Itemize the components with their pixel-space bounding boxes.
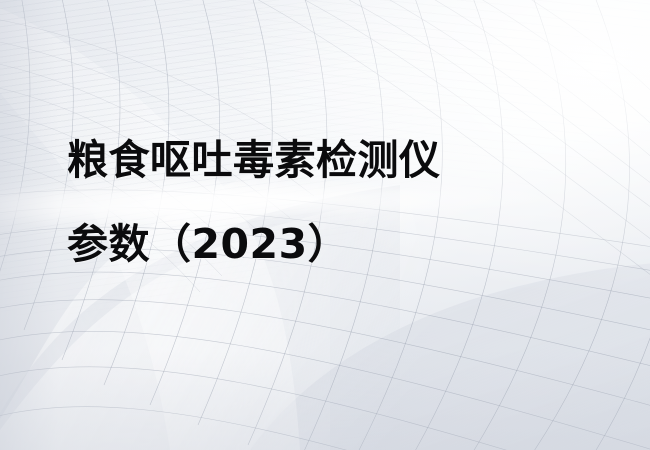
title-block: 粮食呕吐毒素检测仪 参数（2023） <box>67 118 587 286</box>
title-line-2: 参数（2023） <box>67 202 587 286</box>
banner-image: 粮食呕吐毒素检测仪 参数（2023） <box>0 0 650 450</box>
title-line-1: 粮食呕吐毒素检测仪 <box>67 118 587 202</box>
